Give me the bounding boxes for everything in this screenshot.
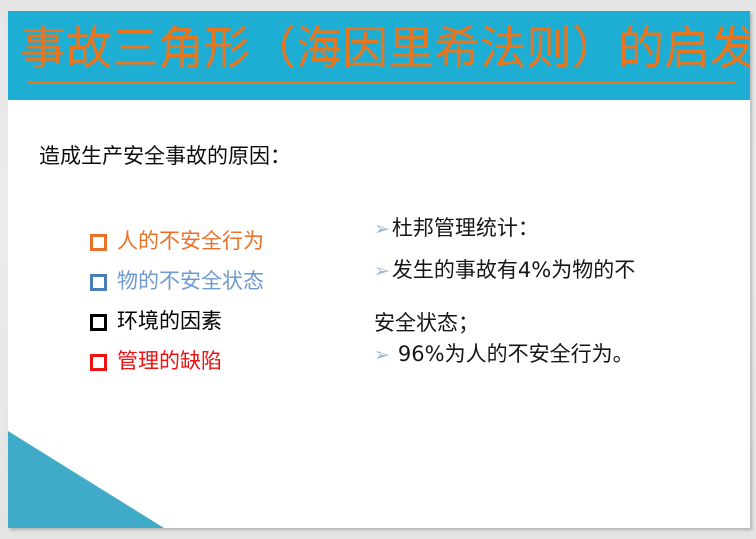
- intro-text: 造成生产安全事故的原因：: [39, 140, 291, 170]
- list-item-label: 管理的缺陷: [117, 351, 222, 372]
- hollow-square-icon: [90, 234, 107, 251]
- slide-title: 事故三角形（海因里希法则）的启发。: [20, 17, 750, 79]
- screenshot-root: 事故三角形（海因里希法则）的启发。 造成生产安全事故的原因： 人的不安全行为 物…: [0, 0, 756, 539]
- list-item: ➢ 96%为人的不安全行为。: [374, 344, 704, 386]
- list-item-label: 环境的因素: [117, 311, 222, 332]
- cause-list: 人的不安全行为 物的不安全状态 环境的因素 管理的缺陷: [90, 221, 350, 381]
- hollow-square-icon: [90, 354, 107, 371]
- list-item: 环境的因素: [90, 301, 350, 341]
- slide-canvas: 事故三角形（海因里希法则）的启发。 造成生产安全事故的原因： 人的不安全行为 物…: [8, 11, 750, 528]
- hollow-square-icon: [90, 274, 107, 291]
- list-item: 物的不安全状态: [90, 261, 350, 301]
- arrow-bullet-icon: ➢: [374, 262, 390, 281]
- list-item-label: 人的不安全行为: [117, 231, 264, 252]
- hollow-square-icon: [90, 314, 107, 331]
- corner-triangle-decoration: [8, 431, 164, 528]
- arrow-bullet-icon: ➢: [374, 220, 390, 239]
- list-item-label: 杜邦管理统计：: [392, 218, 539, 239]
- list-item: ➢ 杜邦管理统计：: [374, 218, 704, 260]
- title-banner: 事故三角形（海因里希法则）的启发。: [8, 11, 750, 100]
- arrow-bullet-icon: ➢: [374, 346, 390, 365]
- list-item-label: 发生的事故有4%为物的不: [392, 260, 635, 281]
- list-item: 人的不安全行为: [90, 221, 350, 261]
- title-underline-rule: [28, 81, 735, 84]
- list-item-label: 96%为人的不安全行为。: [398, 344, 634, 365]
- list-item-label: 物的不安全状态: [117, 271, 264, 292]
- list-item: ➢ 发生的事故有4%为物的不: [374, 260, 704, 302]
- statistics-list: ➢ 杜邦管理统计： ➢ 发生的事故有4%为物的不 安全状态； ➢ 96%为人的不…: [374, 218, 704, 386]
- list-item-continuation: 安全状态；: [374, 302, 704, 344]
- slide-body: 造成生产安全事故的原因： 人的不安全行为 物的不安全状态 环境的因素: [8, 100, 750, 528]
- list-item: 管理的缺陷: [90, 341, 350, 381]
